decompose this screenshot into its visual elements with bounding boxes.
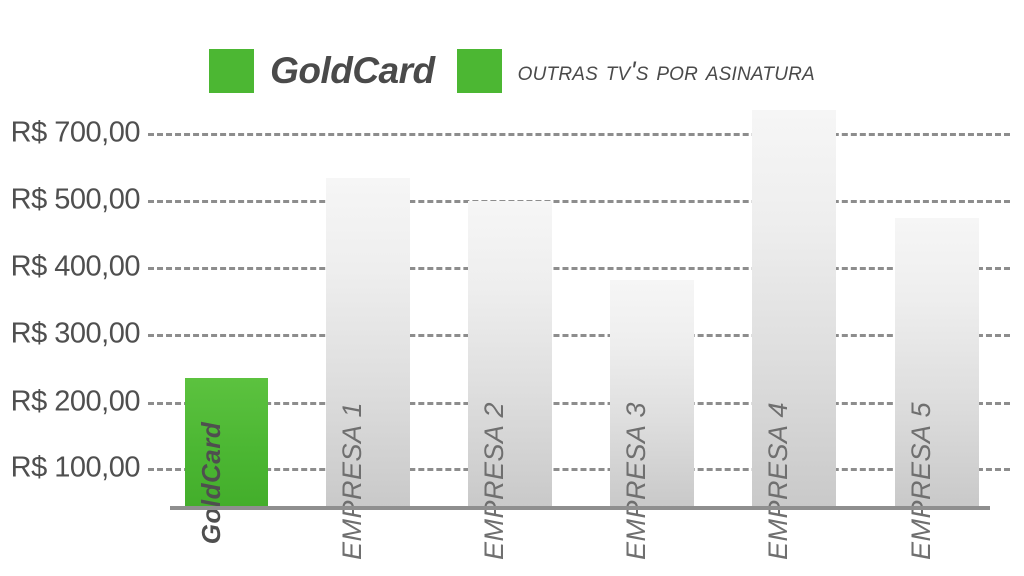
ytick-label-100: R$ 100,00 xyxy=(11,452,140,485)
ytick-label-500: R$ 500,00 xyxy=(11,184,140,217)
bar-goldcard[interactable]: GoldCard xyxy=(185,378,268,507)
bar-empresa-2[interactable]: EMPRESA 2 xyxy=(468,201,552,507)
gridline-500 xyxy=(148,200,1010,203)
bar-label-goldcard: GoldCard xyxy=(196,422,227,544)
bar-empresa-3[interactable]: EMPRESA 3 xyxy=(610,280,694,507)
bar-empresa-1[interactable]: EMPRESA 1 xyxy=(326,178,410,507)
bar-label-empresa-1: EMPRESA 1 xyxy=(337,402,368,560)
gridline-100 xyxy=(148,468,1010,471)
bar-empresa-5[interactable]: EMPRESA 5 xyxy=(895,218,979,507)
gridline-300 xyxy=(148,334,1010,337)
bar-label-empresa-2: EMPRESA 2 xyxy=(479,402,510,560)
x-axis-baseline xyxy=(170,506,990,510)
chart-container: GoldCard Outras Tv's Por Asinatura R$ 70… xyxy=(0,0,1024,576)
ytick-label-400: R$ 400,00 xyxy=(11,251,140,284)
bar-empresa-4[interactable]: EMPRESA 4 xyxy=(752,110,836,507)
ytick-label-300: R$ 300,00 xyxy=(11,318,140,351)
gridline-200 xyxy=(148,402,1010,405)
bar-label-empresa-5: EMPRESA 5 xyxy=(906,402,937,560)
gridline-400 xyxy=(148,267,1010,270)
ytick-label-200: R$ 200,00 xyxy=(11,386,140,419)
gridline-700 xyxy=(148,133,1010,136)
plot-area: R$ 700,00 R$ 500,00 R$ 400,00 R$ 300,00 … xyxy=(0,0,1024,576)
ytick-label-700: R$ 700,00 xyxy=(11,117,140,150)
bar-label-empresa-3: EMPRESA 3 xyxy=(621,402,652,560)
bar-label-empresa-4: EMPRESA 4 xyxy=(763,402,794,560)
